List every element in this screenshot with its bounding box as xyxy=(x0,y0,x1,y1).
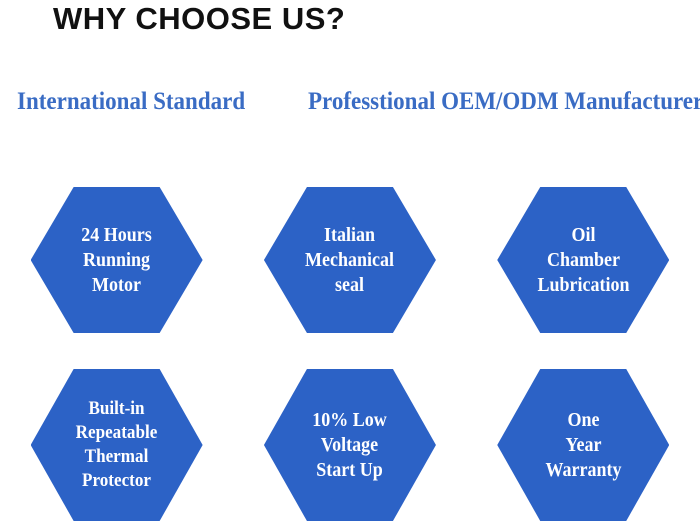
feature-hexagon-10-percent-low-voltage-start-up[interactable]: 10% Low Voltage Start Up xyxy=(264,369,436,521)
feature-hexagon-grid: 24 Hours Running Motor Italian Mechanica… xyxy=(0,180,700,528)
feature-hexagon-built-in-repeatable-thermal-protector[interactable]: Built-in Repeatable Thermal Protector xyxy=(31,369,203,521)
feature-hexagon-oil-chamber-lubrication[interactable]: Oil Chamber Lubrication xyxy=(497,187,669,333)
feature-hexagon-24-hours-running-motor[interactable]: 24 Hours Running Motor xyxy=(31,187,203,333)
feature-hexagon-one-year-warranty[interactable]: One Year Warranty xyxy=(497,369,669,521)
hex-cell: Italian Mechanical seal xyxy=(233,180,466,340)
column-heading-international-standard: International Standard xyxy=(17,88,245,116)
hex-cell: One Year Warranty xyxy=(467,362,700,528)
feature-hexagon-italian-mechanical-seal[interactable]: Italian Mechanical seal xyxy=(264,187,436,333)
column-heading-oem-odm-manufacturer: Professtional OEM/ODM Manufacturer xyxy=(308,88,700,116)
hex-cell: 10% Low Voltage Start Up xyxy=(233,362,466,528)
feature-label: One Year Warranty xyxy=(527,408,640,483)
page-title: WHY CHOOSE US? xyxy=(53,2,345,36)
hex-cell: Oil Chamber Lubrication xyxy=(467,180,700,340)
why-choose-us-infographic: WHY CHOOSE US? International Standard Pr… xyxy=(0,0,700,528)
hex-cell: 24 Hours Running Motor xyxy=(0,180,233,340)
hex-cell: Built-in Repeatable Thermal Protector xyxy=(0,362,233,528)
feature-row-bottom: Built-in Repeatable Thermal Protector 10… xyxy=(0,362,700,528)
feature-label: 10% Low Voltage Start Up xyxy=(294,408,407,483)
feature-label: Oil Chamber Lubrication xyxy=(527,223,640,298)
feature-label: Built-in Repeatable Thermal Protector xyxy=(60,397,173,493)
feature-row-top: 24 Hours Running Motor Italian Mechanica… xyxy=(0,180,700,340)
feature-label: Italian Mechanical seal xyxy=(294,223,407,298)
feature-label: 24 Hours Running Motor xyxy=(60,223,173,298)
